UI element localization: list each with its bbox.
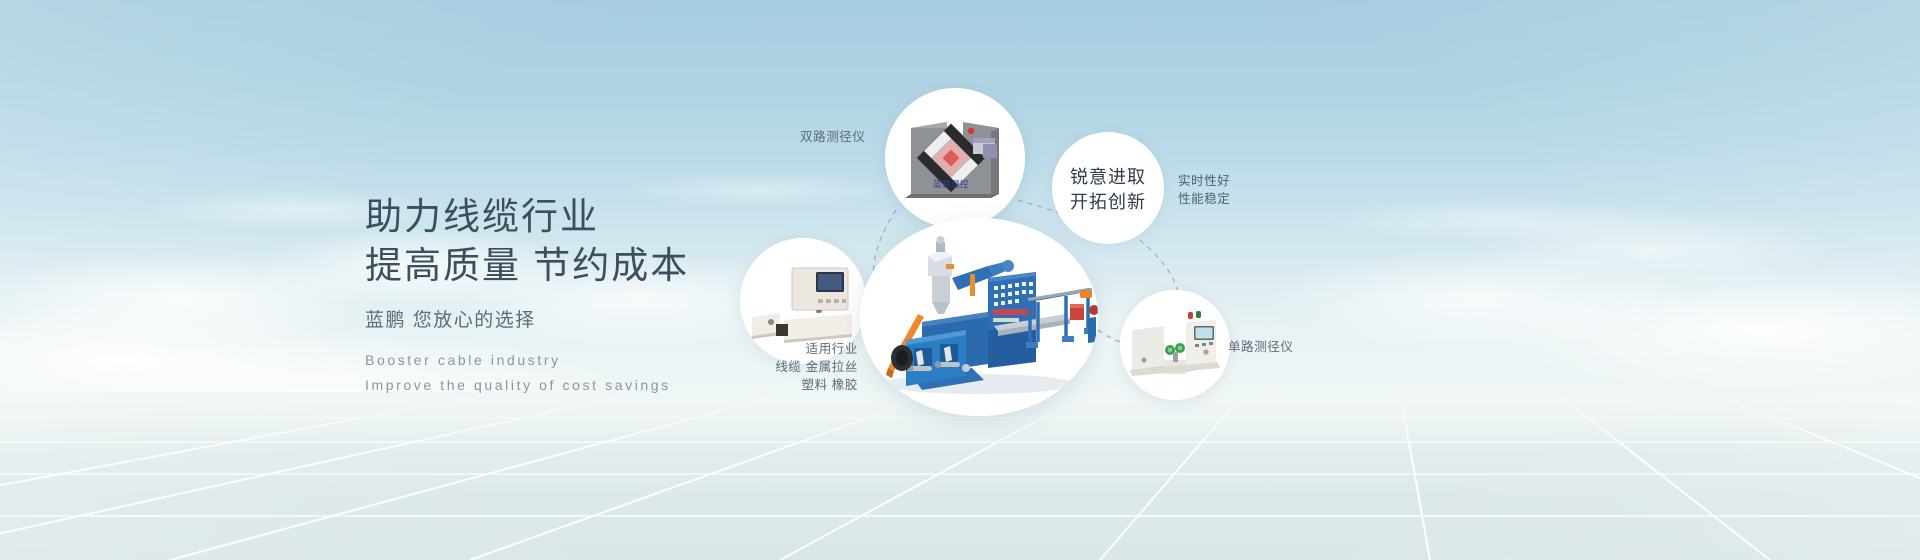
bubble-production-line[interactable] [860,218,1098,416]
label-single-gauge: 单路测径仪 [1228,338,1294,356]
hero-banner: 助力线缆行业 提高质量 节约成本 蓝鹏 您放心的选择 Booster cable… [0,0,1920,560]
slogan-line-2: 开拓创新 [1070,190,1146,215]
perf-line-2: 性能稳定 [1178,190,1230,208]
apply-line-2: 塑料 橡胶 [728,376,858,394]
svg-text:蓝鹏测控: 蓝鹏测控 [933,179,969,190]
bubble-single-gauge[interactable] [1120,290,1230,400]
perf-line-1: 实时性好 [1178,172,1230,190]
slogan-line-1: 锐意进取 [1070,165,1146,190]
slogan-text: 锐意进取 开拓创新 [1052,164,1164,216]
label-performance: 实时性好 性能稳定 [1178,172,1230,208]
apply-title: 适用行业 [728,340,858,358]
single-axis-gauge-illustration [1120,290,1230,400]
product-composition: 蓝鹏测控 [700,0,1400,560]
extrusion-line-illustration [860,218,1098,416]
label-dual-gauge: 双路测径仪 [800,128,866,146]
bubble-dual-gauge[interactable]: 蓝鹏测控 [885,88,1025,228]
dual-axis-gauge-illustration: 蓝鹏测控 [885,88,1025,228]
label-apply-industries: 适用行业 线缆 金属拉丝 塑料 橡胶 [728,340,858,394]
apply-line-1: 线缆 金属拉丝 [728,358,858,376]
